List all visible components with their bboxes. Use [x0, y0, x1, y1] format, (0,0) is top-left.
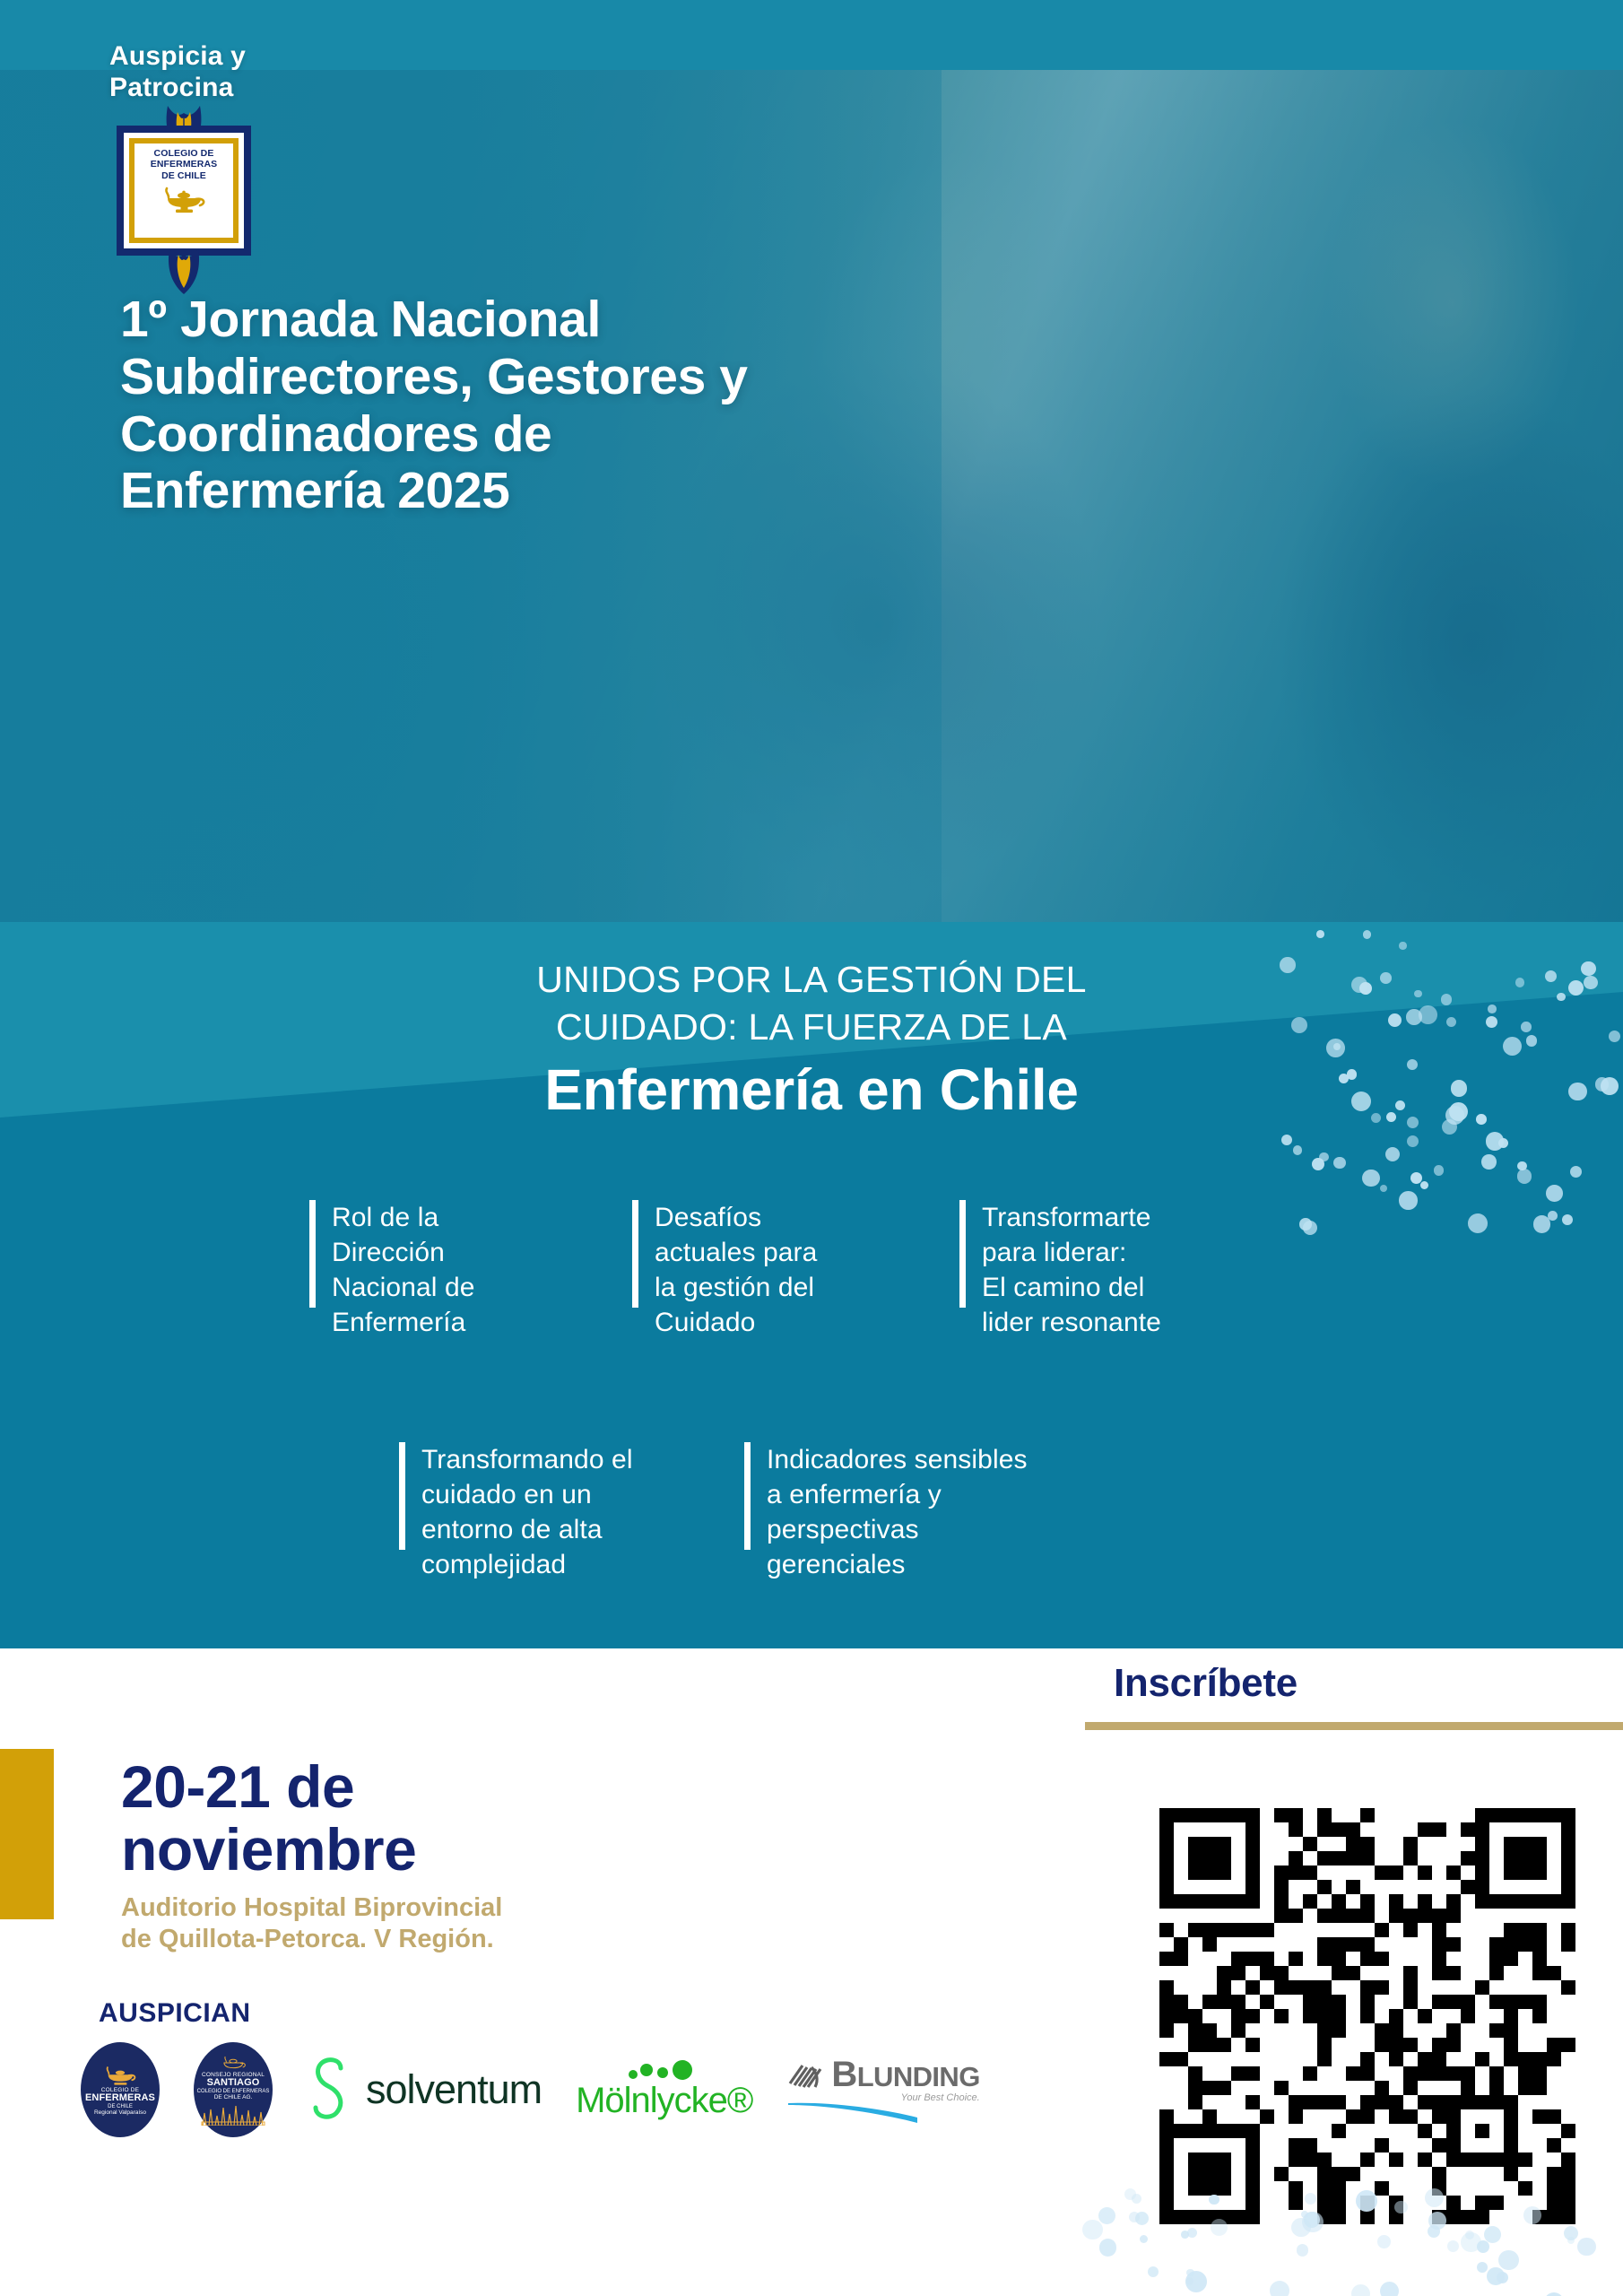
theme-subtitle-line-1: UNIDOS POR LA GESTIÓN DEL [0, 956, 1623, 1004]
inscribete-heading: Inscríbete [1114, 1661, 1298, 1706]
badge-line-2: ENFERMERAS [85, 2093, 155, 2104]
sponsor-logo-molnlycke: Mölnlycke® [576, 2059, 752, 2121]
auspician-heading: AUSPICIAN [99, 1998, 251, 2029]
sponsor-logos: COLEGIO DE ENFERMERAS DE CHILE Regional … [81, 2040, 1049, 2139]
blunding-wordmark-row: BLUNDING [786, 2055, 979, 2095]
auspicia-patrocina-label: Auspicia y Patrocina [109, 41, 246, 104]
topic-accent-bar [632, 1200, 638, 1308]
topic-item: Transformarte para liderar: El camino de… [959, 1200, 1269, 1340]
oil-lamp-icon [102, 2064, 138, 2087]
wheat-bottom-icon [164, 248, 204, 294]
blunding-swoosh-icon [786, 2101, 919, 2125]
badge-line-4: Regional Valparaíso [94, 2109, 146, 2116]
molnlycke-dots-icon [627, 2059, 702, 2081]
topics-row-top: Rol de la Dirección Nacional de Enfermer… [309, 1200, 1269, 1340]
sponsor-logo-santiago: CONSEJO REGIONAL SANTIAGO COLEGIO DE ENF… [194, 2042, 273, 2137]
logo-gold-border: COLEGIO DE ENFERMERAS DE CHILE [129, 138, 239, 243]
inscribete-rule [1085, 1722, 1623, 1730]
event-date: 20-21 de noviembre [121, 1756, 416, 1882]
auspicia-line-1: Auspicia y [109, 41, 246, 73]
event-venue: Auditorio Hospital Biprovincial de Quill… [121, 1892, 502, 1956]
sponsor-logo-solventum: solventum [307, 2054, 542, 2126]
auspicia-line-2: Patrocina [109, 73, 246, 104]
logo-frame: COLEGIO DE ENFERMERAS DE CHILE [117, 126, 251, 256]
topic-label: Indicadores sensibles a enfermería y per… [767, 1442, 1063, 1582]
topic-accent-bar [744, 1442, 751, 1550]
theme-subtitle: UNIDOS POR LA GESTIÓN DEL CUIDADO: LA FU… [0, 956, 1623, 1052]
footer-section: 20-21 de noviembre Auditorio Hospital Bi… [0, 1648, 1623, 2296]
santiago-badge: CONSEJO REGIONAL SANTIAGO COLEGIO DE ENF… [194, 2042, 273, 2137]
topic-label: Transformando el cuidado en un entorno d… [421, 1442, 664, 1582]
badge-line-2: SANTIAGO [207, 2078, 260, 2089]
blunding-leaf-icon [786, 2060, 828, 2091]
topic-label: Rol de la Dirección Nacional de Enfermer… [332, 1200, 551, 1340]
logo-white-inset: COLEGIO DE ENFERMERAS DE CHILE [124, 133, 244, 248]
logo-line-2: ENFERMERAS [151, 159, 218, 170]
topic-label: Desafíos actuales para la gestión del Cu… [655, 1200, 879, 1340]
blunding-wordmark: BLUNDING [831, 2055, 979, 2095]
registration-qr-code[interactable] [1159, 1808, 1575, 2224]
theme-headline: Enfermería en Chile [0, 1057, 1623, 1123]
logo-line-1: COLEGIO DE [154, 148, 214, 159]
badge-line-4: DE CHILE AG. [214, 2094, 253, 2100]
santiago-skyline-icon [200, 2100, 266, 2126]
oil-lamp-icon [218, 2054, 248, 2072]
topic-accent-bar [309, 1200, 316, 1308]
solventum-mark-icon [307, 2054, 357, 2126]
sponsor-logo-blunding: BLUNDING Your Best Choice. [786, 2055, 979, 2125]
solventum-wordmark: solventum [366, 2066, 542, 2113]
logo-line-3: DE CHILE [161, 170, 206, 181]
event-title: 1º Jornada Nacional Subdirectores, Gesto… [120, 291, 784, 520]
colegio-enfermeras-logo: COLEGIO DE ENFERMERAS DE CHILE [117, 106, 251, 272]
topic-accent-bar [399, 1442, 405, 1550]
oil-lamp-icon [160, 183, 208, 213]
topic-accent-bar [959, 1200, 966, 1308]
gold-accent-block [0, 1749, 54, 1919]
topics-row-bottom: Transformando el cuidado en un entorno d… [399, 1442, 1063, 1582]
topic-label: Transformarte para liderar: El camino de… [982, 1200, 1269, 1340]
topic-item: Indicadores sensibles a enfermería y per… [744, 1442, 1063, 1582]
valparaiso-badge: COLEGIO DE ENFERMERAS DE CHILE Regional … [81, 2042, 160, 2137]
topic-item: Desafíos actuales para la gestión del Cu… [632, 1200, 879, 1340]
topic-item: Rol de la Dirección Nacional de Enfermer… [309, 1200, 551, 1340]
theme-section: UNIDOS POR LA GESTIÓN DEL CUIDADO: LA FU… [0, 922, 1623, 1648]
topic-item: Transformando el cuidado en un entorno d… [399, 1442, 664, 1582]
theme-subtitle-line-2: CUIDADO: LA FUERZA DE LA [0, 1004, 1623, 1051]
sponsor-logo-valparaiso: COLEGIO DE ENFERMERAS DE CHILE Regional … [81, 2042, 160, 2137]
molnlycke-wordmark: Mölnlycke® [576, 2081, 752, 2121]
